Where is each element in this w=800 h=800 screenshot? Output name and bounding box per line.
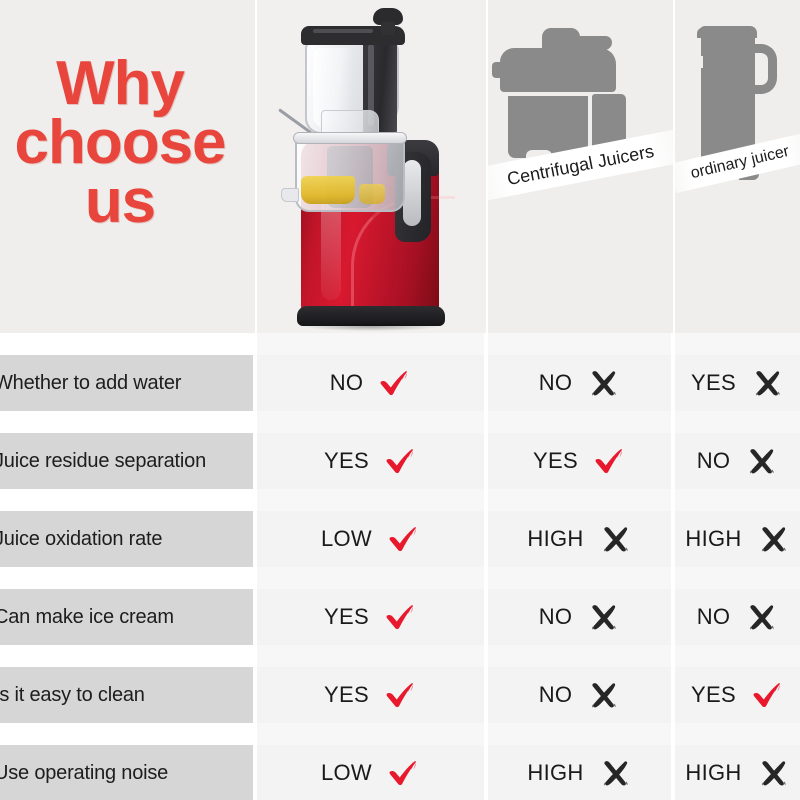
table-row: Use operating noiseLOWHIGHHIGH xyxy=(0,745,800,800)
red-check-mark-icon xyxy=(383,600,417,634)
cell-value-text: HIGH xyxy=(527,526,583,552)
header-product-cell xyxy=(255,0,486,333)
cell-value-text: NO xyxy=(539,370,573,396)
cell-slow-juicer: LOW xyxy=(257,511,484,567)
juicer-lid-knob-stem xyxy=(381,22,395,35)
cell-centrifugal: YES xyxy=(488,433,671,489)
cell-ordinary: HIGH xyxy=(675,745,800,800)
cell-slow-juicer: YES xyxy=(257,433,484,489)
ordinary-jug-lip xyxy=(697,28,707,38)
row-feature-label: Juice oxidation rate xyxy=(0,511,253,567)
cell-ordinary: NO xyxy=(675,589,800,645)
header-divider-3 xyxy=(673,0,675,333)
row-feature-text: Use operating noise xyxy=(0,762,168,785)
red-check-mark-icon xyxy=(592,444,626,478)
row-feature-text: Juice oxidation rate xyxy=(0,528,162,551)
cell-value-text: NO xyxy=(697,448,731,474)
cell-value-text: YES xyxy=(324,448,369,474)
row-feature-label: Can make ice cream xyxy=(0,589,253,645)
black-cross-mark-icon xyxy=(756,756,790,790)
juicer-bowl-rim xyxy=(293,132,407,144)
centrifugal-shoulder xyxy=(500,48,616,92)
juicer-lid-highlight xyxy=(313,29,373,33)
table-divider-2 xyxy=(486,333,488,800)
black-cross-mark-icon xyxy=(598,756,632,790)
juicer-spout xyxy=(281,188,299,202)
table-row: Juice oxidation rateLOWHIGHHIGH xyxy=(0,511,800,567)
cell-value-text: YES xyxy=(324,682,369,708)
table-divider-3 xyxy=(673,333,675,800)
cell-value-text: NO xyxy=(330,370,364,396)
cell-slow-juicer: NO xyxy=(257,355,484,411)
table-row: Can make ice creamYESNONO xyxy=(0,589,800,645)
ordinary-jug-side-cut xyxy=(697,56,703,68)
cell-value-text: NO xyxy=(697,604,731,630)
cell-centrifugal: NO xyxy=(488,355,671,411)
row-feature-label: Is it easy to clean xyxy=(0,667,253,723)
page-title: Why choose us xyxy=(0,55,254,232)
cell-value-text: YES xyxy=(691,682,736,708)
cell-value-text: YES xyxy=(533,448,578,474)
cell-value-text: NO xyxy=(539,682,573,708)
red-check-mark-icon xyxy=(383,678,417,712)
red-check-mark-icon xyxy=(383,444,417,478)
centrifugal-side-tab xyxy=(492,62,504,78)
table-divider-1 xyxy=(255,333,257,800)
red-check-mark-icon xyxy=(386,522,420,556)
cell-centrifugal: HIGH xyxy=(488,745,671,800)
header-divider-1 xyxy=(255,0,257,333)
cell-value-text: HIGH xyxy=(527,760,583,786)
table-row: Is it easy to cleanYESNOYES xyxy=(0,667,800,723)
ordinary-jug-lid xyxy=(699,26,757,38)
row-feature-text: Whether to add water xyxy=(0,372,181,395)
header-centrifugal-cell: Centrifugal Juicers xyxy=(486,0,673,333)
cell-value-text: YES xyxy=(324,604,369,630)
cell-slow-juicer: LOW xyxy=(257,745,484,800)
cell-value-text: HIGH xyxy=(685,760,741,786)
row-feature-label: Juice residue separation xyxy=(0,433,253,489)
title-line-3: us xyxy=(0,173,254,232)
row-feature-label: Whether to add water xyxy=(0,355,253,411)
red-check-mark-icon xyxy=(377,366,411,400)
table-row: Juice residue separationYESYESNO xyxy=(0,433,800,489)
black-cross-mark-icon xyxy=(744,444,778,478)
cell-centrifugal: HIGH xyxy=(488,511,671,567)
juicer-juice-right xyxy=(359,184,385,204)
black-cross-mark-icon xyxy=(586,678,620,712)
cell-centrifugal: NO xyxy=(488,589,671,645)
black-cross-mark-icon xyxy=(756,522,790,556)
cell-value-text: HIGH xyxy=(685,526,741,552)
cell-value-text: LOW xyxy=(321,526,372,552)
cell-slow-juicer: YES xyxy=(257,667,484,723)
juicer-handle-cutout xyxy=(403,160,421,226)
ordinary-jug-handle xyxy=(751,44,777,94)
black-cross-mark-icon xyxy=(586,600,620,634)
cell-ordinary: YES xyxy=(675,355,800,411)
header-divider-2 xyxy=(486,0,488,333)
cell-value-text: NO xyxy=(539,604,573,630)
juicer-juice-left xyxy=(301,176,355,204)
comparison-table: Whether to add waterNONOYESJuice residue… xyxy=(0,333,800,800)
comparison-infographic: Why choose us xyxy=(0,0,800,800)
row-feature-text: Is it easy to clean xyxy=(0,684,145,707)
table-row: Whether to add waterNONOYES xyxy=(0,355,800,411)
row-feature-text: Can make ice cream xyxy=(0,606,174,629)
header-title-cell: Why choose us xyxy=(0,0,255,333)
red-check-mark-icon xyxy=(750,678,784,712)
row-feature-text: Juice residue separation xyxy=(0,450,206,473)
cell-centrifugal: NO xyxy=(488,667,671,723)
cell-value-text: LOW xyxy=(321,760,372,786)
title-line-1: Why xyxy=(0,55,254,114)
black-cross-mark-icon xyxy=(598,522,632,556)
cell-slow-juicer: YES xyxy=(257,589,484,645)
cell-ordinary: YES xyxy=(675,667,800,723)
cell-ordinary: NO xyxy=(675,433,800,489)
header-band: Why choose us xyxy=(0,0,800,333)
black-cross-mark-icon xyxy=(750,366,784,400)
black-cross-mark-icon xyxy=(744,600,778,634)
row-feature-label: Use operating noise xyxy=(0,745,253,800)
red-check-mark-icon xyxy=(386,756,420,790)
title-line-2: choose xyxy=(0,114,254,173)
black-cross-mark-icon xyxy=(586,366,620,400)
juicer-drop-shadow xyxy=(303,322,439,331)
cell-ordinary: HIGH xyxy=(675,511,800,567)
header-ordinary-cell: ordinary juicer xyxy=(673,0,800,333)
cell-value-text: YES xyxy=(691,370,736,396)
centrifugal-top xyxy=(542,28,580,50)
slow-juicer-product-photo xyxy=(255,0,486,333)
